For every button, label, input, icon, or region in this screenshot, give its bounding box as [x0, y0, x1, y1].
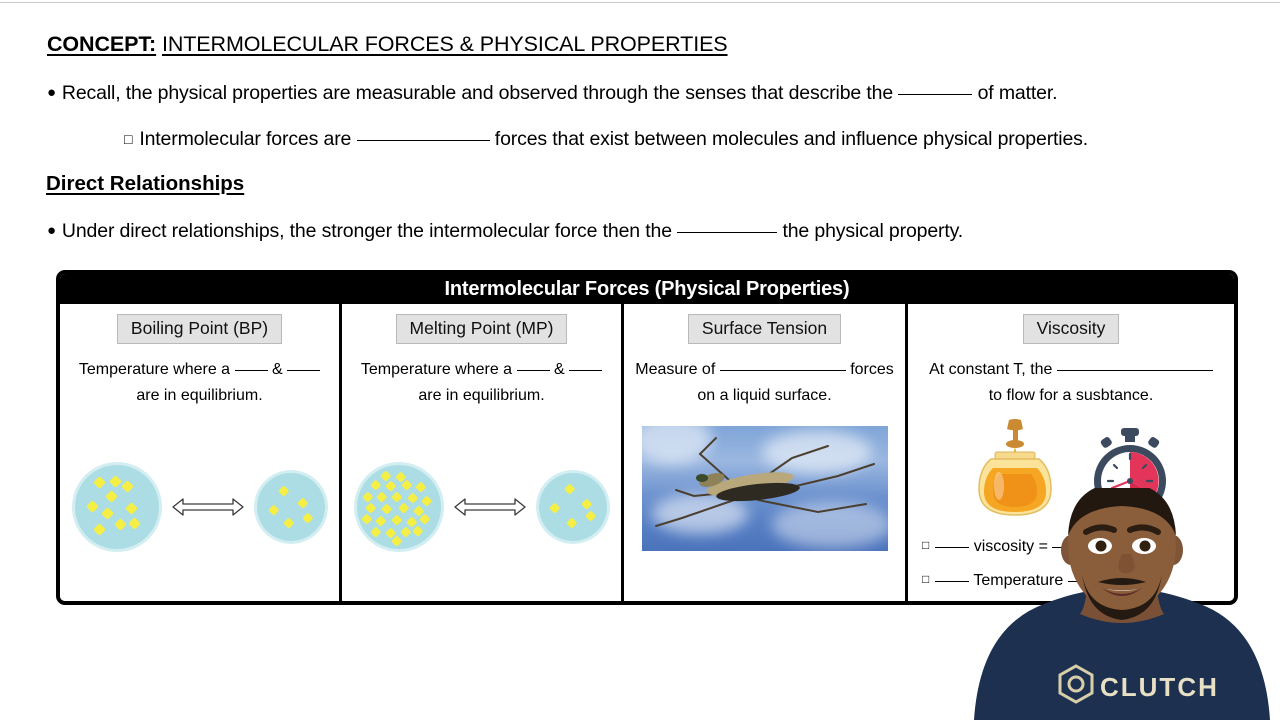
- bullet-square-icon: □: [124, 131, 132, 147]
- mp-liquid-beaker-icon: [539, 473, 607, 541]
- section-heading-direct-relationships: Direct Relationships: [46, 172, 244, 196]
- fill-blank-bp-phase-2: [287, 370, 320, 371]
- lecture-slide: CONCEPT: INTERMOLECULAR FORCES & PHYSICA…: [0, 0, 1280, 720]
- table-column-surface-tension: Surface Tension Measure of forces on a l…: [624, 304, 908, 601]
- fill-blank-viscosity-resistance: [1057, 370, 1213, 371]
- column-chip-viscosity: Viscosity: [1023, 314, 1120, 344]
- bullet-imf-text-b: forces that exist between molecules and …: [495, 128, 1088, 150]
- column-description-surface-tension: Measure of forces on a liquid surface.: [624, 357, 905, 410]
- bullet-recall: ●Recall, the physical properties are mea…: [47, 82, 1057, 105]
- fill-blank-imf-type: [357, 140, 490, 141]
- fill-blank-st-force-type: [720, 370, 846, 371]
- vi-desc-b: to flow for a susbtance.: [989, 387, 1154, 404]
- st-desc-a: Measure of: [635, 361, 715, 378]
- bullet-imf-text-a: Intermolecular forces are: [139, 128, 351, 150]
- mp-equilibrium-diagram: [342, 462, 621, 552]
- column-description-boiling-point: Temperature where a & are in equilibrium…: [60, 357, 339, 410]
- water-strider-photo: [642, 426, 888, 551]
- bp-desc-amp: &: [272, 361, 283, 378]
- column-description-melting-point: Temperature where a & are in equilibrium…: [342, 357, 621, 410]
- bullet-direct-text-b: the physical property.: [782, 220, 963, 242]
- mp-desc-b: are in equilibrium.: [418, 387, 544, 404]
- vi-desc-a: At constant T, the: [929, 361, 1052, 378]
- st-desc-c: on a liquid surface.: [697, 387, 831, 404]
- bp-desc-a: Temperature where a: [79, 361, 230, 378]
- column-chip-boiling-point: Boiling Point (BP): [117, 314, 282, 344]
- bullet-direct-relationship: ●Under direct relationships, the stronge…: [47, 220, 963, 243]
- bullet-imf-definition: □Intermolecular forces are forces that e…: [124, 128, 1088, 151]
- mp-desc-a: Temperature where a: [361, 361, 512, 378]
- table-header: Intermolecular Forces (Physical Properti…: [60, 274, 1234, 304]
- mp-solid-beaker-icon: [357, 465, 441, 549]
- mp-double-arrow-icon: [453, 496, 527, 518]
- fill-blank-mp-phase-1: [517, 370, 550, 371]
- fill-blank-stronger: [677, 232, 777, 233]
- fill-blank-mp-phase-2: [569, 370, 602, 371]
- bullet-recall-text-a: Recall, the physical properties are meas…: [62, 82, 893, 104]
- presenter-video-overlay[interactable]: CLUTCH: [964, 488, 1280, 720]
- bullet-dot-icon: ●: [47, 222, 56, 239]
- column-chip-melting-point: Melting Point (MP): [396, 314, 568, 344]
- page-title: CONCEPT: INTERMOLECULAR FORCES & PHYSICA…: [47, 32, 728, 57]
- concept-label: CONCEPT:: [47, 32, 156, 56]
- column-chip-surface-tension: Surface Tension: [688, 314, 841, 344]
- bullet-dot-icon: ●: [47, 84, 56, 101]
- bullet-direct-text-a: Under direct relationships, the stronger…: [62, 220, 672, 242]
- fill-blank-bp-phase-1: [235, 370, 268, 371]
- water-strider-icon: [642, 426, 888, 551]
- concept-title: INTERMOLECULAR FORCES & PHYSICAL PROPERT…: [162, 32, 728, 56]
- presenter-shirt-brand-text: CLUTCH: [1100, 672, 1219, 702]
- bullet-recall-text-b: of matter.: [978, 82, 1058, 104]
- table-column-melting-point: Melting Point (MP) Temperature where a &…: [342, 304, 624, 601]
- bullet-square-icon: □: [922, 572, 929, 586]
- bp-gas-beaker-icon: [257, 473, 325, 541]
- fill-blank-property: [898, 94, 972, 95]
- bullet-square-icon: □: [922, 538, 929, 552]
- bp-equilibrium-diagram: [60, 462, 339, 552]
- bp-double-arrow-icon: [171, 496, 245, 518]
- st-desc-b: forces: [850, 361, 894, 378]
- column-description-viscosity: At constant T, the to flow for a susbtan…: [908, 357, 1234, 410]
- table-column-boiling-point: Boiling Point (BP) Temperature where a &…: [60, 304, 342, 601]
- mp-desc-amp: &: [554, 361, 565, 378]
- bp-liquid-beaker-icon: [75, 465, 159, 549]
- bp-desc-b: are in equilibrium.: [136, 387, 262, 404]
